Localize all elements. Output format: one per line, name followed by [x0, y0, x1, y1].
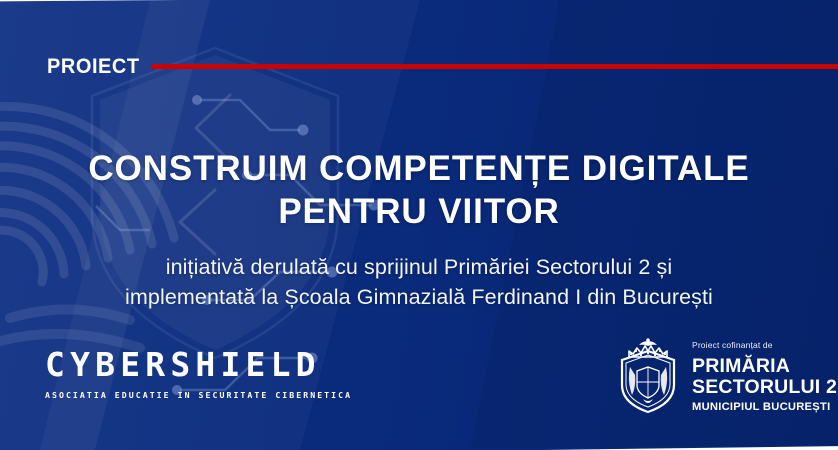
project-kicker-row: PROIECT: [47, 53, 838, 79]
promo-banner: PROIECT CONSTRUIM COMPETENȚE DIGITALE PE…: [0, 0, 838, 450]
cybershield-wordmark: CYBERSHIELD: [45, 348, 345, 381]
accent-red-rule: [151, 64, 838, 69]
page-subtitle: inițiativă derulată cu sprijinul Primări…: [0, 252, 838, 313]
headline-line-2: PENTRU VIITOR: [0, 191, 838, 234]
primaria-text-block: Proiect cofinanțat de PRIMĂRIA SECTORULU…: [692, 339, 837, 414]
coat-of-arms-shield-eagle-crown-icon: [617, 337, 679, 415]
subtitle-line-1: inițiativă derulată cu sprijinul Primări…: [166, 255, 672, 279]
primaria-name-line-2: SECTORULUI 2: [692, 377, 837, 398]
project-kicker-label: PROIECT: [47, 56, 140, 77]
primaria-municipality-line: MUNICIPIUL BUCUREȘTI: [692, 402, 837, 413]
page-title: CONSTRUIM COMPETENȚE DIGITALE PENTRU VII…: [0, 148, 838, 233]
cybershield-logo: CYBERSHIELD ASOCIATIA EDUCATIE IN SECURI…: [45, 348, 345, 399]
subtitle-line-2: implementată la Școala Gimnazială Ferdin…: [0, 282, 838, 313]
cybershield-tagline: ASOCIATIA EDUCATIE IN SECURITATE CIBERNE…: [45, 391, 345, 399]
headline-line-1: CONSTRUIM COMPETENȚE DIGITALE: [88, 149, 749, 188]
primaria-sector2-logo: Proiect cofinanțat de PRIMĂRIA SECTORULU…: [617, 337, 837, 415]
primaria-funding-kicker: Proiect cofinanțat de: [692, 341, 837, 350]
primaria-name-line-1: PRIMĂRIA: [692, 356, 837, 377]
